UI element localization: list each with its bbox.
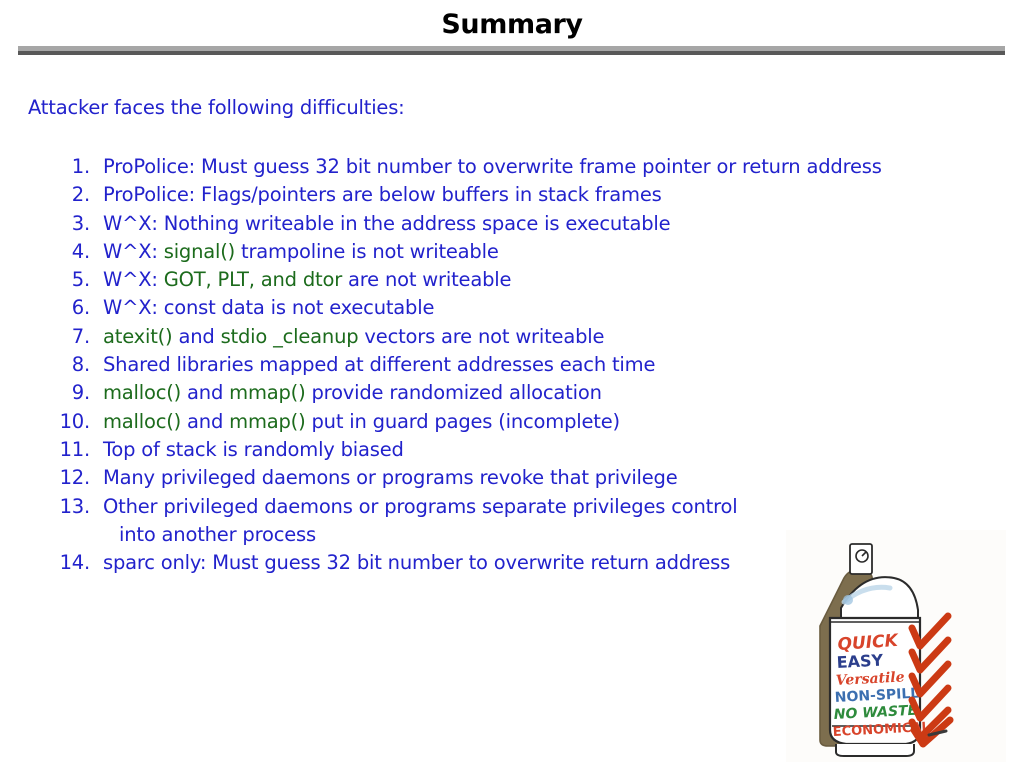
list-item-text: Top of stack is randomly biased: [90, 438, 984, 461]
list-item-number: 9.: [24, 381, 90, 404]
list-item-segment: trampoline is not writeable: [235, 240, 499, 263]
list-item-text: W^X: signal() trampoline is not writeabl…: [90, 240, 984, 263]
intro-text: Attacker faces the following difficultie…: [28, 96, 405, 119]
page-title: Summary: [0, 8, 1024, 42]
list-item: 13.Other privileged daemons or programs …: [24, 495, 984, 523]
list-item-segment: W^X:: [103, 240, 164, 263]
list-item: 8.Shared libraries mapped at different a…: [24, 353, 984, 381]
list-item: 2.ProPolice: Flags/pointers are below bu…: [24, 183, 984, 211]
spray-can-nozzle: [850, 544, 872, 574]
list-item-segment: Shared libraries mapped at different add…: [103, 353, 655, 376]
list-item-number: 14.: [24, 551, 90, 574]
list-item-number: 10.: [24, 410, 90, 433]
list-item-text: atexit() and stdio _cleanup vectors are …: [90, 325, 984, 348]
list-item-segment: mmap(): [229, 410, 305, 433]
list-item-text: W^X: const data is not executable: [90, 296, 984, 319]
list-item-text: ProPolice: Must guess 32 bit number to o…: [90, 155, 984, 178]
list-item-segment: mmap(): [229, 381, 305, 404]
list-item-number: 13.: [24, 495, 90, 518]
slide-canvas: Summary Attacker faces the following dif…: [0, 0, 1024, 768]
list-item-number: 5.: [24, 268, 90, 291]
list-item-text: Shared libraries mapped at different add…: [90, 353, 984, 376]
list-item: 3.W^X: Nothing writeable in the address …: [24, 212, 984, 240]
list-item: 10.malloc() and mmap() put in guard page…: [24, 410, 984, 438]
list-item-number: 6.: [24, 296, 90, 319]
list-item-segment: atexit(): [103, 325, 172, 348]
title-divider-dark: [18, 51, 1005, 55]
list-item-segment: Top of stack is randomly biased: [103, 438, 404, 461]
list-item-segment: Other privileged daemons or programs sep…: [103, 495, 737, 518]
list-item-segment: put in guard pages (incomplete): [306, 410, 620, 433]
list-item-segment: and: [181, 381, 229, 404]
list-item-number: 2.: [24, 183, 90, 206]
list-item: 9.malloc() and mmap() provide randomized…: [24, 381, 984, 409]
list-item-segment: stdio _cleanup: [221, 325, 359, 348]
list-item-text: W^X: GOT, PLT, and dtor are not writeabl…: [90, 268, 984, 291]
list-item: 1.ProPolice: Must guess 32 bit number to…: [24, 155, 984, 183]
list-item-segment: and: [181, 410, 229, 433]
list-item-segment: ProPolice: Flags/pointers are below buff…: [103, 183, 662, 206]
list-item-text: Other privileged daemons or programs sep…: [90, 495, 984, 518]
list-item-segment: provide randomized allocation: [306, 381, 602, 404]
list-item-number: 4.: [24, 240, 90, 263]
list-item-segment: malloc(): [103, 381, 181, 404]
spray-can-image: QUICK EASY Versatile NON-SPILL NO WASTE …: [786, 530, 1006, 762]
list-item-segment: signal(): [164, 240, 235, 263]
list-item-segment: GOT, PLT, and dtor: [164, 268, 342, 291]
list-item-number: 1.: [24, 155, 90, 178]
list-item-segment: and: [172, 325, 220, 348]
list-item-segment: W^X:: [103, 268, 164, 291]
list-item-number: 8.: [24, 353, 90, 376]
list-item-text: Many privileged daemons or programs revo…: [90, 466, 984, 489]
list-item-text: ProPolice: Flags/pointers are below buff…: [90, 183, 984, 206]
list-item: 6.W^X: const data is not executable: [24, 296, 984, 324]
title-divider: [18, 46, 1005, 55]
list-item: 5.W^X: GOT, PLT, and dtor are not writea…: [24, 268, 984, 296]
list-item: 7.atexit() and stdio _cleanup vectors ar…: [24, 325, 984, 353]
list-item-number: 3.: [24, 212, 90, 235]
list-item-segment: ProPolice: Must guess 32 bit number to o…: [103, 155, 882, 178]
list-item-text: malloc() and mmap() provide randomized a…: [90, 381, 984, 404]
list-item-number: 7.: [24, 325, 90, 348]
list-item-segment: sparc only: Must guess 32 bit number to …: [103, 551, 730, 574]
difficulties-list: 1.ProPolice: Must guess 32 bit number to…: [24, 155, 984, 579]
list-item-segment: are not writeable: [342, 268, 511, 291]
list-item-segment: Many privileged daemons or programs revo…: [103, 466, 678, 489]
list-item-segment: vectors are not writeable: [358, 325, 604, 348]
list-item: 4.W^X: signal() trampoline is not writea…: [24, 240, 984, 268]
list-item-text: W^X: Nothing writeable in the address sp…: [90, 212, 984, 235]
list-item-number: 11.: [24, 438, 90, 461]
list-item-number: 12.: [24, 466, 90, 489]
label-easy: EASY: [836, 651, 884, 672]
list-item-segment: W^X: Nothing writeable in the address sp…: [103, 212, 670, 235]
list-item: 11.Top of stack is randomly biased: [24, 438, 984, 466]
list-item-text: malloc() and mmap() put in guard pages (…: [90, 410, 984, 433]
list-item-segment: malloc(): [103, 410, 181, 433]
list-item: 12.Many privileged daemons or programs r…: [24, 466, 984, 494]
list-item-continuation: into another process: [24, 523, 316, 546]
list-item-segment: W^X: const data is not executable: [103, 296, 434, 319]
